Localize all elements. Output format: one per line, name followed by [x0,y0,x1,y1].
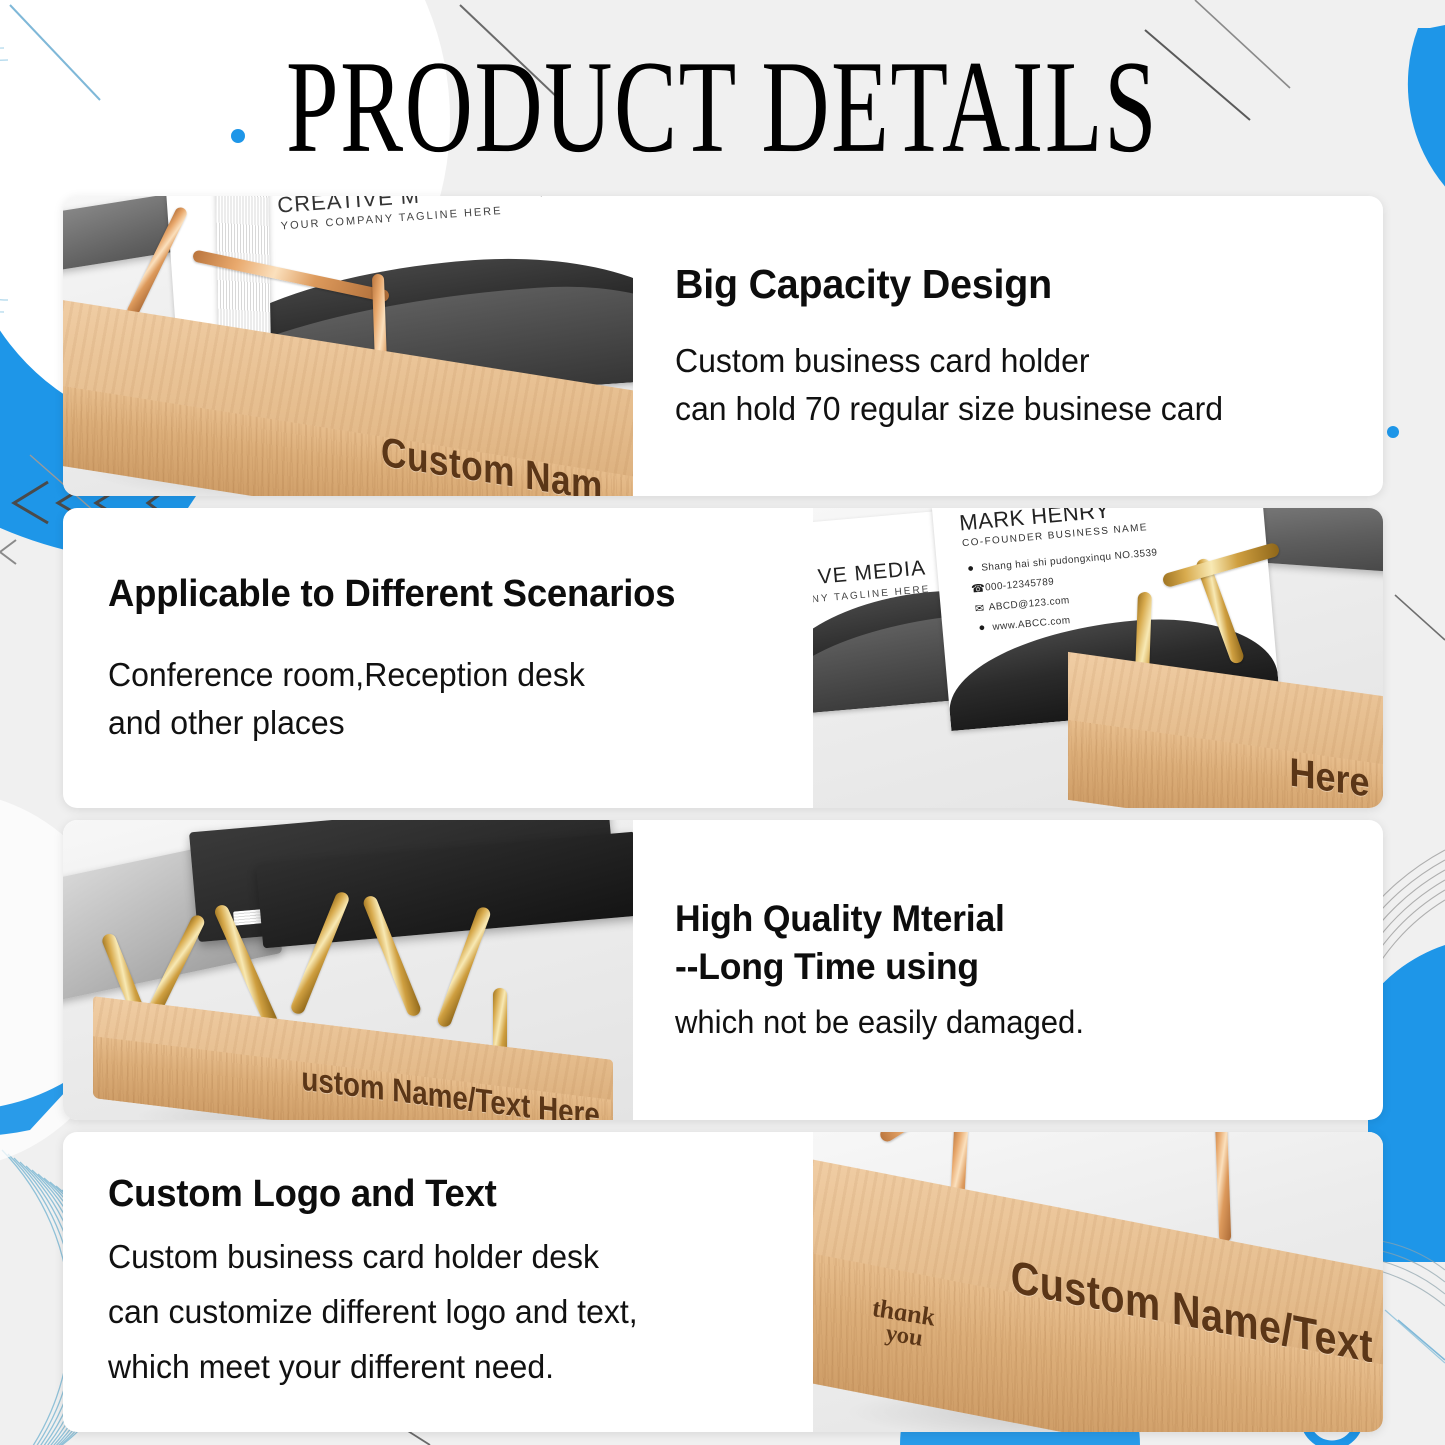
card-website: www.ABCC.com [992,615,1071,633]
location-pin-icon: ● [967,562,975,575]
feature-panel-big-capacity: CREATIVE M YOUR COMPANY TAGLINE HERE ABC… [63,196,1383,496]
feature-body: which not be easily damaged. [675,999,1337,1045]
card-phone: 000-12345789 [985,576,1055,593]
globe-icon: ● [978,622,986,635]
blue-dot-right [1387,426,1399,438]
feature-heading: Big Capacity Design [675,260,1330,309]
feature-copy-scenarios: Applicable to Different Scenarios Confer… [63,508,813,808]
feature-heading: High Quality Mterial --Long Time using [675,895,1330,991]
product-photo-big-capacity: CREATIVE M YOUR COMPANY TAGLINE HERE ABC… [63,196,633,496]
product-photo-custom-logo: thank you Custom Name/Text Here [813,1132,1383,1432]
card-line-web: www.ABCC.com [539,196,619,199]
product-photo-high-quality: ustom Name/Text Here [63,820,633,1120]
page-title: PRODUCT DETAILS [286,40,1158,174]
feature-body: Custom business card holder can hold 70 … [675,337,1337,433]
page-title-container: PRODUCT DETAILS [0,40,1445,170]
mail-icon: ✉ [974,602,984,616]
product-photo-scenarios: VE MEDIA NY TAGLINE HERE MARK HENRY CO-F… [813,508,1383,808]
card-email: ABCD@123.com [988,595,1070,613]
feature-body: Conference room,Reception desk and other… [108,651,767,747]
feature-copy-custom-logo: Custom Logo and Text Custom business car… [63,1132,813,1432]
feature-copy-big-capacity: Big Capacity Design Custom business card… [633,196,1383,496]
feature-heading: Custom Logo and Text [108,1170,760,1219]
feature-panel-scenarios: VE MEDIA NY TAGLINE HERE MARK HENRY CO-F… [63,508,1383,808]
feature-panel-high-quality: ustom Name/Text Here High Quality Mteria… [63,820,1383,1120]
feature-body: Custom business card holder desk can cus… [108,1229,767,1394]
feature-panel-custom-logo: thank you Custom Name/Text Here Custom L… [63,1132,1383,1432]
card-address: Shang hai shi pudongxinqu NO.3539 [981,547,1158,573]
phone-icon: ☎ [971,582,986,596]
feature-heading: Applicable to Different Scenarios [108,570,760,619]
feature-copy-high-quality: High Quality Mterial --Long Time using w… [633,820,1383,1120]
